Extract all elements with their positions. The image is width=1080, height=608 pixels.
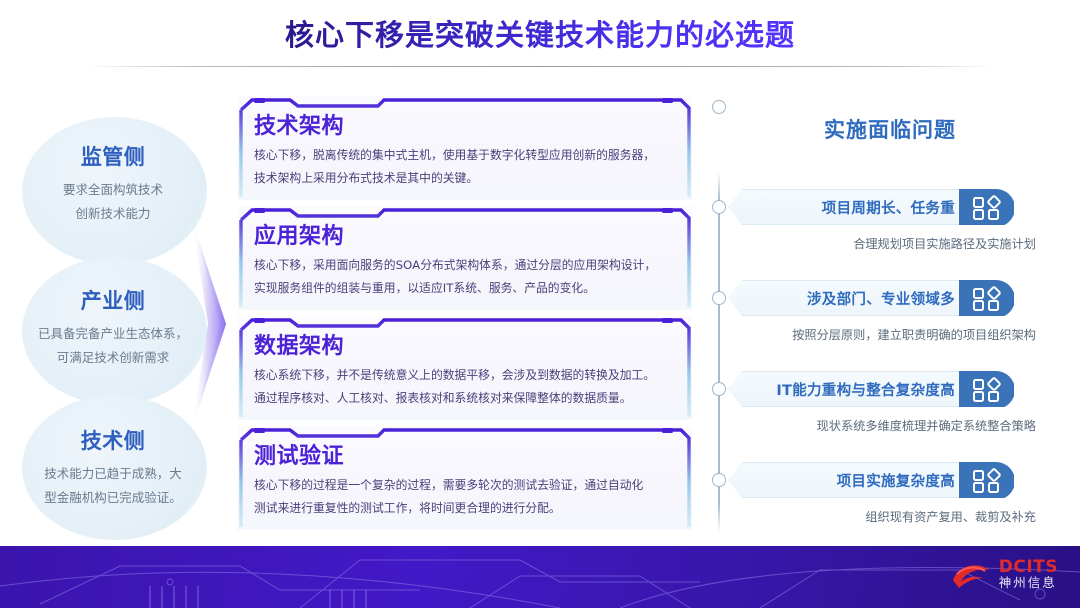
four-blocks-icon <box>959 371 1015 409</box>
card-title: 技术架构 <box>254 108 676 140</box>
left-item-heading: 产业侧 <box>8 285 218 315</box>
issue-item-1[interactable]: 项目周期长、任务重 合理规划项目实施路径及实施计划 <box>728 189 1044 252</box>
issue-label: 项目周期长、任务重 <box>822 197 955 218</box>
left-item-technology: 技术侧 技术能力已趋于成熟，大 型金融机构已完成验证。 <box>8 425 218 511</box>
architecture-card[interactable]: 技术架构 核心下移，脱离传统的集中式主机，使用基于数字化转型应用创新的服务器， … <box>238 96 692 200</box>
left-item-line: 可满足技术创新需求 <box>8 346 218 370</box>
four-blocks-icon <box>959 280 1015 318</box>
issue-item-3[interactable]: IT能力重构与整合复杂度高 现状系统多维度梳理并确定系统整合策略 <box>728 371 1044 434</box>
testing-validation-card[interactable]: 测试验证 核心下移的过程是一个复杂的过程，需要多轮次的测试去验证，通过自动化 测… <box>238 426 692 530</box>
timeline-dot <box>712 473 726 487</box>
four-blocks-icon <box>959 189 1015 227</box>
timeline-dot <box>712 200 726 214</box>
four-blocks-icon <box>959 462 1015 500</box>
issue-pill[interactable]: 项目实施复杂度高 <box>728 462 1014 498</box>
logo-text: DCITS 神州信息 <box>999 559 1058 590</box>
timeline-dot <box>712 291 726 305</box>
left-column: 监管侧 要求全面构筑技术 创新技术能力 产业侧 已具备完备产业生态体系， 可满足… <box>0 95 232 535</box>
logo-en: DCITS <box>999 559 1058 577</box>
card-content: 数据架构 核心系统下移，并不是传统意义上的数据平移，会涉及到数据的转换及加工。 … <box>254 328 676 410</box>
issue-pill[interactable]: 涉及部门、专业领域多 <box>728 280 1014 316</box>
issue-label: IT能力重构与整合复杂度高 <box>776 379 955 400</box>
left-item-heading: 技术侧 <box>8 425 218 455</box>
issue-pill[interactable]: IT能力重构与整合复杂度高 <box>728 371 1014 407</box>
application-architecture-card[interactable]: 应用架构 核心下移，采用面向服务的SOA分布式架构体系，通过分层的应用架构设计，… <box>238 206 692 310</box>
left-item-line: 已具备完备产业生态体系， <box>8 322 218 346</box>
card-text-line: 技术架构上采用分布式技术是其中的关键。 <box>254 167 676 190</box>
issue-pill[interactable]: 项目周期长、任务重 <box>728 189 1014 225</box>
card-text-line: 测试来进行重复性的测试工作，将时间更合理的进行分配。 <box>254 497 676 520</box>
circuit-pattern-icon <box>0 546 1080 608</box>
card-content: 测试验证 核心下移的过程是一个复杂的过程，需要多轮次的测试去验证，通过自动化 测… <box>254 438 676 520</box>
card-text-line: 核心系统下移，并不是传统意义上的数据平移，会涉及到数据的转换及加工。 <box>254 364 676 387</box>
title-area: 核心下移是突破关键技术能力的必选题 <box>0 12 1080 54</box>
left-item-line: 技术能力已趋于成熟，大 <box>8 462 218 486</box>
card-title: 数据架构 <box>254 328 676 360</box>
left-item-line: 创新技术能力 <box>8 202 218 226</box>
company-logo: DCITS 神州信息 <box>949 558 1058 590</box>
card-content: 应用架构 核心下移，采用面向服务的SOA分布式架构体系，通过分层的应用架构设计，… <box>254 218 676 300</box>
issue-subtext: 现状系统多维度梳理并确定系统整合策略 <box>728 416 1044 434</box>
left-item-regulator: 监管侧 要求全面构筑技术 创新技术能力 <box>8 141 218 227</box>
center-column: 技术架构 核心下移，脱离传统的集中式主机，使用基于数字化转型应用创新的服务器， … <box>238 96 692 536</box>
left-item-heading: 监管侧 <box>8 141 218 171</box>
footer-band: DCITS 神州信息 <box>0 546 1080 608</box>
right-column: 实施面临问题 项目周期长、任务重 合理规划项目实施路径及实施计划 <box>700 100 1080 540</box>
issue-label: 项目实施复杂度高 <box>837 470 955 491</box>
page-title: 核心下移是突破关键技术能力的必选题 <box>285 12 795 54</box>
card-content: 技术架构 核心下移，脱离传统的集中式主机，使用基于数字化转型应用创新的服务器， … <box>254 108 676 190</box>
card-title: 测试验证 <box>254 438 676 470</box>
card-title: 应用架构 <box>254 218 676 250</box>
issue-subtext: 组织现有资产复用、裁剪及补充 <box>728 507 1044 525</box>
data-architecture-card[interactable]: 数据架构 核心系统下移，并不是传统意义上的数据平移，会涉及到数据的转换及加工。 … <box>238 316 692 420</box>
right-column-heading: 实施面临问题 <box>700 114 1080 144</box>
left-item-industry: 产业侧 已具备完备产业生态体系， 可满足技术创新需求 <box>8 285 218 371</box>
card-text-line: 核心下移，采用面向服务的SOA分布式架构体系，通过分层的应用架构设计， <box>254 254 676 277</box>
issue-subtext: 合理规划项目实施路径及实施计划 <box>728 234 1044 252</box>
slide-canvas: 核心下移是突破关键技术能力的必选题 监管侧 要求全面构筑技术 创新技术能力 产业… <box>0 0 1080 608</box>
card-text-line: 核心下移，脱离传统的集中式主机，使用基于数字化转型应用创新的服务器， <box>254 144 676 167</box>
issue-subtext: 按照分层原则，建立职责明确的项目组织架构 <box>728 325 1044 343</box>
card-text-line: 核心下移的过程是一个复杂的过程，需要多轮次的测试去验证，通过自动化 <box>254 474 676 497</box>
issue-item-4[interactable]: 项目实施复杂度高 组织现有资产复用、裁剪及补充 <box>728 462 1044 525</box>
dcits-swoosh-icon <box>949 558 995 590</box>
issue-label: 涉及部门、专业领域多 <box>807 288 955 309</box>
left-item-line: 型金融机构已完成验证。 <box>8 486 218 510</box>
logo-cn: 神州信息 <box>999 576 1058 589</box>
issue-item-2[interactable]: 涉及部门、专业领域多 按照分层原则，建立职责明确的项目组织架构 <box>728 280 1044 343</box>
timeline-dot <box>712 100 726 114</box>
left-item-line: 要求全面构筑技术 <box>8 178 218 202</box>
title-divider <box>88 66 992 67</box>
card-text-line: 通过程序核对、人工核对、报表核对和系统核对来保障整体的数据质量。 <box>254 387 676 410</box>
card-text-line: 实现服务组件的组装与重用，以适应IT系统、服务、产品的变化。 <box>254 277 676 300</box>
timeline-dot <box>712 382 726 396</box>
